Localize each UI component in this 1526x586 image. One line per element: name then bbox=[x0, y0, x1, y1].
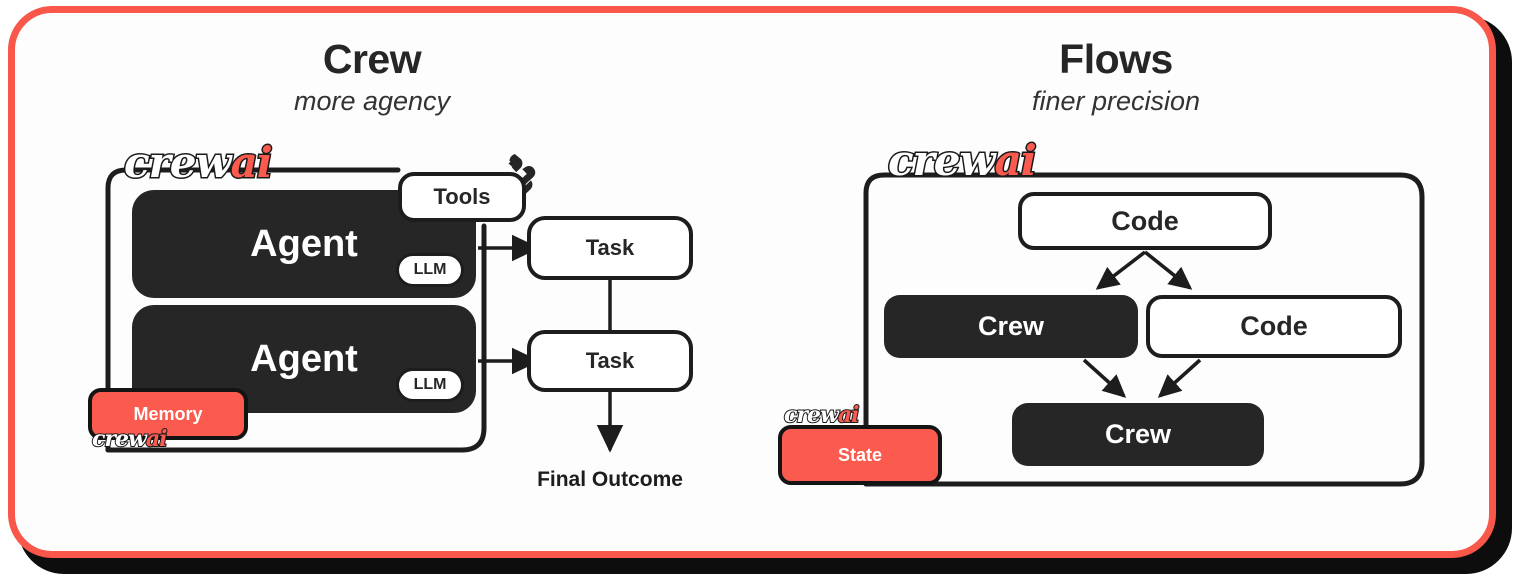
code-box-top-label: Code bbox=[1111, 206, 1179, 237]
code-box-middle[interactable]: Code bbox=[1146, 295, 1402, 358]
crewai-logo-accent: ai bbox=[146, 426, 167, 452]
crew-box-bottom[interactable]: Crew bbox=[1012, 403, 1264, 466]
task-box-2-label: Task bbox=[586, 348, 635, 374]
crew-panel-title: Crew bbox=[0, 36, 744, 83]
state-badge-label: State bbox=[838, 445, 882, 466]
code-box-top[interactable]: Code bbox=[1018, 192, 1272, 250]
crew-box-middle[interactable]: Crew bbox=[884, 295, 1138, 358]
diagram-canvas: Crew more agency crewai Agent Agent LLM … bbox=[0, 0, 1526, 586]
crewai-logo-state: crewai bbox=[784, 404, 859, 426]
tools-box-label: Tools bbox=[433, 184, 490, 210]
crewai-logo-flows-panel: crewai bbox=[888, 140, 1036, 182]
crewai-logo-word: crew bbox=[124, 138, 231, 187]
agent-box-2-label: Agent bbox=[250, 338, 358, 381]
final-outcome-label: Final Outcome bbox=[527, 468, 693, 492]
crewai-logo-word: crew bbox=[888, 136, 995, 185]
llm-badge-2-label: LLM bbox=[414, 376, 447, 394]
agent-box-1-label: Agent bbox=[250, 223, 358, 266]
crew-panel-subtitle: more agency bbox=[0, 86, 744, 117]
tools-box[interactable]: Tools bbox=[398, 172, 526, 222]
task-box-1-label: Task bbox=[586, 235, 635, 261]
task-box-2[interactable]: Task bbox=[527, 330, 693, 392]
code-box-middle-label: Code bbox=[1240, 311, 1308, 342]
crew-box-middle-label: Crew bbox=[978, 311, 1044, 342]
crewai-logo-crew-panel: crewai bbox=[124, 142, 272, 184]
memory-badge-label: Memory bbox=[133, 404, 202, 425]
crewai-logo-word: crew bbox=[92, 426, 146, 452]
crewai-logo-accent: ai bbox=[838, 402, 859, 428]
crewai-logo-word: crew bbox=[784, 402, 838, 428]
crewai-logo-memory: crewai bbox=[92, 428, 167, 450]
llm-badge-1-label: LLM bbox=[414, 261, 447, 279]
flows-panel-title: Flows bbox=[744, 36, 1488, 83]
flows-panel: Flows finer precision bbox=[744, 0, 1488, 586]
crew-box-bottom-label: Crew bbox=[1105, 419, 1171, 450]
llm-badge-1[interactable]: LLM bbox=[396, 253, 464, 287]
crewai-logo-accent: ai bbox=[995, 136, 1036, 185]
state-badge[interactable]: State bbox=[778, 425, 942, 485]
llm-badge-2[interactable]: LLM bbox=[396, 368, 464, 402]
flows-panel-subtitle: finer precision bbox=[744, 86, 1488, 117]
crewai-logo-accent: ai bbox=[231, 138, 272, 187]
task-box-1[interactable]: Task bbox=[527, 216, 693, 280]
